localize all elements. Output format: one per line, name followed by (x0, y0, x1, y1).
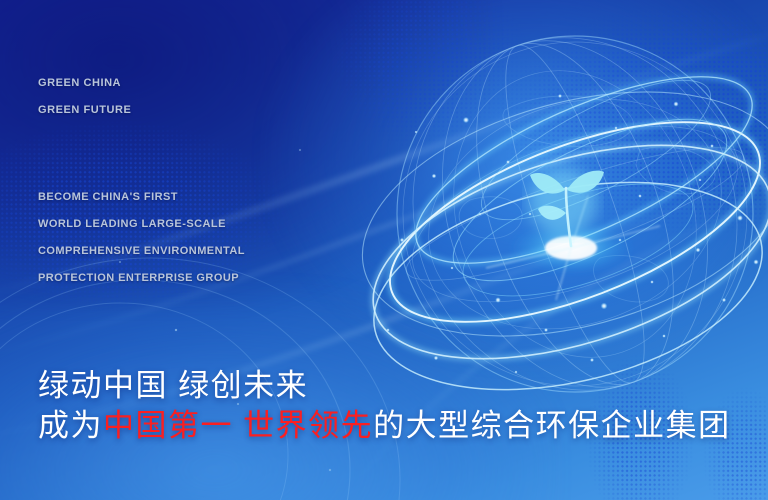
tagline-line-1: GREEN CHINA (38, 70, 131, 97)
headline-prefix: 成为 (38, 408, 103, 443)
headline-highlight: 中国第一 世界领先 (103, 408, 373, 443)
headline-suffix: 的大型综合环保企业集团 (373, 408, 731, 443)
slogan-line-1: BECOME CHINA'S FIRST (38, 184, 245, 211)
green-china-banner: GREEN CHINA GREEN FUTURE BECOME CHINA'S … (0, 0, 768, 500)
slogan-line-4: PROTECTION ENTERPRISE GROUP (38, 265, 245, 292)
tagline-line-2: GREEN FUTURE (38, 97, 131, 124)
chinese-headline-block: 绿动中国 绿创未来 成为中国第一 世界领先的大型综合环保企业集团 (38, 366, 731, 446)
english-tagline-block: GREEN CHINA GREEN FUTURE (38, 70, 131, 124)
english-slogan-block: BECOME CHINA'S FIRST WORLD LEADING LARGE… (38, 184, 245, 292)
slogan-line-2: WORLD LEADING LARGE-SCALE (38, 211, 245, 238)
headline-line-1: 绿动中国 绿创未来 (38, 366, 731, 406)
headline-line-2: 成为中国第一 世界领先的大型综合环保企业集团 (38, 406, 731, 446)
text-layer: GREEN CHINA GREEN FUTURE BECOME CHINA'S … (0, 0, 768, 500)
slogan-line-3: COMPREHENSIVE ENVIRONMENTAL (38, 238, 245, 265)
